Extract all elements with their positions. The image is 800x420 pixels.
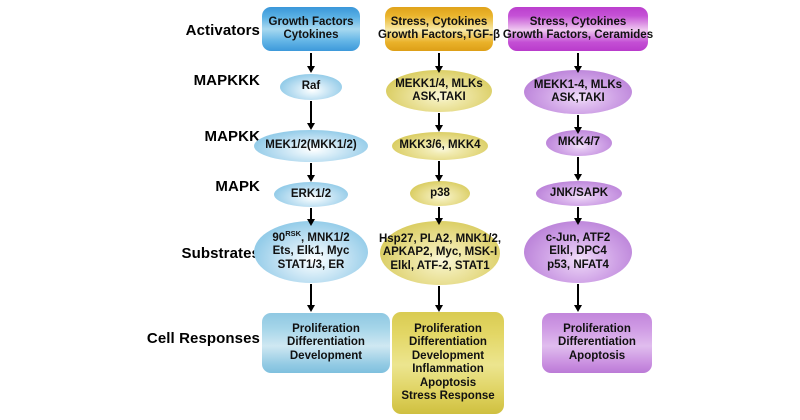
- substrates-line-1: 90RSK, MNK1/2: [272, 232, 349, 244]
- mapk-node-jnk-sapk[interactable]: JNK/SAPK: [536, 181, 622, 206]
- mapkkk-line-1: MEKK1/4, MLKs: [395, 78, 483, 90]
- cell-response-line-3: Apoptosis: [569, 350, 625, 362]
- mapkkk-line-2: ASK,TAKI: [412, 91, 465, 103]
- activators-box-p38[interactable]: Stress, Cytokines Growth Factors,TGF-β: [385, 7, 493, 51]
- substrates-node-jnk[interactable]: c-Jun, ATF2 Elkl, DPC4 p53, NFAT4: [524, 221, 632, 283]
- mapkkk-line-1: MEKK1-4, MLKs: [534, 79, 622, 91]
- arrow-jnk-substrates-to-responses: [571, 284, 585, 312]
- row-label-mapkk: MAPKK: [110, 128, 260, 145]
- activators-line-1: Growth Factors: [269, 16, 354, 28]
- activators-line-1: Stress, Cytokines: [391, 16, 488, 28]
- substrates-node-erk[interactable]: 90RSK, MNK1/2 Ets, Elk1, Myc STAT1/3, ER: [254, 221, 368, 283]
- mapkk-text-mkk36: MKK3/6, MKK4: [399, 139, 480, 153]
- activators-text-p38: Stress, Cytokines Growth Factors,TGF-β: [378, 16, 500, 43]
- substrates-line-2: Elkl, DPC4: [549, 245, 607, 257]
- cell-response-line-3: Development: [290, 350, 362, 362]
- row-label-mapk: MAPK: [110, 178, 260, 195]
- mapkkk-node-p38[interactable]: MEKK1/4, MLKs ASK,TAKI: [386, 70, 492, 112]
- mapk-pathway-diagram: Activators MAPKKK MAPKK MAPK Substrates …: [0, 0, 800, 420]
- substrates-line-1: c-Jun, ATF2: [546, 232, 611, 244]
- arrow-jnk-mapkk-to-mapk: [571, 157, 585, 181]
- cell-response-line-1: Proliferation: [563, 323, 631, 335]
- substrate-90-base: 90: [272, 232, 285, 244]
- activators-text-jnk: Stress, Cytokines Growth Factors, Cerami…: [503, 16, 653, 43]
- substrate-rsk-sup: RSK: [285, 229, 301, 238]
- substrates-line-2: APKAP2, Myc, MSK-I: [383, 246, 497, 258]
- cell-responses-text-erk: Proliferation Differentiation Developmen…: [287, 323, 365, 364]
- mapkkk-node-raf[interactable]: Raf: [280, 74, 342, 100]
- row-label-mapkkk: MAPKKK: [110, 72, 260, 89]
- cell-responses-box-jnk[interactable]: Proliferation Differentiation Apoptosis: [542, 313, 652, 373]
- activators-line-2: Growth Factors, Ceramides: [503, 29, 653, 41]
- cell-response-line-2: Differentiation: [409, 336, 487, 348]
- arrow-erk-activators-to-mapkkk: [304, 53, 318, 73]
- activators-line-2: Growth Factors,TGF-β: [378, 29, 500, 41]
- mapkkk-text-raf: Raf: [302, 80, 321, 94]
- cell-response-line-5: Apoptosis: [420, 377, 476, 389]
- activators-text-erk: Growth Factors Cytokines: [269, 16, 354, 43]
- mapkk-node-mkk36[interactable]: MKK3/6, MKK4: [392, 132, 488, 160]
- activators-line-2: Cytokines: [284, 29, 339, 41]
- arrow-p38-mapkkk-to-mapkk: [432, 113, 446, 132]
- mapkk-text-mek12: MEK1/2(MKK1/2): [265, 139, 356, 153]
- substrates-text-erk: 90RSK, MNK1/2 Ets, Elk1, Myc STAT1/3, ER: [272, 232, 349, 273]
- substrates-line-3: p53, NFAT4: [547, 259, 609, 271]
- arrow-jnk-activators-to-mapkkk: [571, 53, 585, 73]
- activators-box-erk[interactable]: Growth Factors Cytokines: [262, 7, 360, 51]
- arrow-erk-mapk-to-substrates: [304, 208, 318, 226]
- arrow-jnk-mapkkk-to-mapkk: [571, 115, 585, 134]
- cell-response-line-4: Inflammation: [412, 363, 484, 375]
- mapk-text-p38: p38: [430, 187, 450, 201]
- activators-line-1: Stress, Cytokines: [530, 16, 627, 28]
- arrow-erk-mapkk-to-mapk: [304, 163, 318, 182]
- cell-response-line-1: Proliferation: [414, 323, 482, 335]
- cell-response-line-1: Proliferation: [292, 323, 360, 335]
- mapk-node-erk12[interactable]: ERK1/2: [274, 182, 348, 207]
- arrow-p38-activators-to-mapkkk: [432, 53, 446, 73]
- cell-response-line-2: Differentiation: [287, 336, 365, 348]
- mapkkk-node-jnk[interactable]: MEKK1-4, MLKs ASK,TAKI: [524, 70, 632, 114]
- cell-response-line-3: Development: [412, 350, 484, 362]
- mapk-text-jnk-sapk: JNK/SAPK: [550, 187, 608, 201]
- substrates-line-3: STAT1/3, ER: [278, 259, 345, 271]
- substrates-text-p38: Hsp27, PLA2, MNK1/2, APKAP2, Myc, MSK-I …: [379, 233, 501, 274]
- cell-responses-text-jnk: Proliferation Differentiation Apoptosis: [558, 323, 636, 364]
- activators-box-jnk[interactable]: Stress, Cytokines Growth Factors, Cerami…: [508, 7, 648, 51]
- substrates-line-1: Hsp27, PLA2, MNK1/2,: [379, 233, 501, 245]
- substrates-text-jnk: c-Jun, ATF2 Elkl, DPC4 p53, NFAT4: [546, 232, 611, 273]
- mapkkk-text-p38: MEKK1/4, MLKs ASK,TAKI: [395, 78, 483, 105]
- mapkkk-line-2: ASK,TAKI: [551, 92, 604, 104]
- cell-response-line-6: Stress Response: [401, 390, 494, 402]
- row-label-cell-responses: Cell Responses: [110, 330, 260, 347]
- mapkkk-text-jnk: MEKK1-4, MLKs ASK,TAKI: [534, 79, 622, 106]
- cell-responses-box-erk[interactable]: Proliferation Differentiation Developmen…: [262, 313, 390, 373]
- substrates-node-p38[interactable]: Hsp27, PLA2, MNK1/2, APKAP2, Myc, MSK-I …: [380, 221, 500, 285]
- substrates-line-3: Elkl, ATF-2, STAT1: [390, 260, 489, 272]
- substrates-line-2: Ets, Elk1, Myc: [273, 245, 350, 257]
- mapk-node-p38[interactable]: p38: [410, 181, 470, 206]
- arrow-erk-mapkkk-to-mapkk: [304, 101, 318, 130]
- substrate-90rsk-rest: , MNK1/2: [301, 232, 350, 244]
- cell-response-line-2: Differentiation: [558, 336, 636, 348]
- cell-responses-text-p38: Proliferation Differentiation Developmen…: [401, 323, 494, 404]
- arrow-jnk-mapk-to-substrates: [571, 207, 585, 225]
- mapkk-text-mkk47: MKK4/7: [558, 136, 600, 150]
- mapk-text-erk12: ERK1/2: [291, 188, 331, 202]
- row-label-activators: Activators: [110, 22, 260, 39]
- arrow-erk-substrates-to-responses: [304, 284, 318, 312]
- arrow-p38-substrates-to-responses: [432, 286, 446, 312]
- arrow-p38-mapk-to-substrates: [432, 207, 446, 225]
- row-label-substrates: Substrates: [110, 245, 260, 262]
- cell-responses-box-p38[interactable]: Proliferation Differentiation Developmen…: [392, 312, 504, 414]
- mapkk-node-mek12[interactable]: MEK1/2(MKK1/2): [254, 130, 368, 162]
- arrow-p38-mapkk-to-mapk: [432, 161, 446, 182]
